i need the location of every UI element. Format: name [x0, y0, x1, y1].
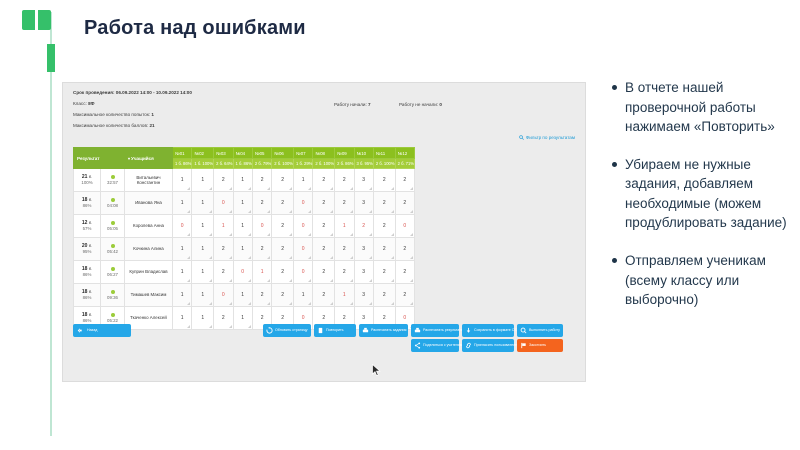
- max-points-value: 21: [149, 123, 154, 128]
- score-cell-8[interactable]: 2: [313, 215, 335, 238]
- student-time: 06:27: [101, 261, 125, 284]
- task-sub-6: 1 б.29%: [294, 159, 313, 169]
- col-result[interactable]: Результат: [74, 148, 101, 169]
- repeat-label: Повторить: [326, 329, 344, 333]
- table-row[interactable]: 20 б.95%05:42Кочкина Алина112122022322: [74, 238, 415, 261]
- bullet-text: В отчете нашей проверочной работы нажима…: [625, 78, 790, 137]
- student-name[interactable]: Тимашев Максим: [125, 284, 173, 307]
- score-cell-3[interactable]: 0: [214, 284, 233, 307]
- task-header-10[interactable]: №11: [373, 148, 395, 159]
- status-dot-icon: [111, 267, 115, 271]
- col-time: [101, 148, 125, 169]
- cell-corner-icon: [391, 302, 394, 305]
- task-header-8[interactable]: №09: [335, 148, 354, 159]
- print-tasks-button[interactable]: Распечатать задания ▾: [359, 324, 408, 337]
- task-sub-11: 2 б.71%: [395, 159, 414, 169]
- class-label: Класс:: [73, 101, 87, 106]
- cell-corner-icon: [229, 302, 232, 305]
- cell-corner-icon: [308, 279, 311, 282]
- cell-corner-icon: [229, 187, 232, 190]
- cell-corner-icon: [369, 210, 372, 213]
- score-cell-11[interactable]: 2: [373, 284, 395, 307]
- decorative-rail-line: [50, 12, 52, 436]
- task-sub-3: 1 б.86%: [233, 159, 252, 169]
- cell-corner-icon: [369, 187, 372, 190]
- score-cell-11[interactable]: 2: [373, 238, 395, 261]
- table-row[interactable]: 12 б.57%05:05Королева Анна011102021220: [74, 215, 415, 238]
- bullet-dot-icon: [612, 258, 617, 263]
- student-name[interactable]: Иванова Яна: [125, 192, 173, 215]
- task-sub-7: 2 б.100%: [313, 159, 335, 169]
- score-cell-5[interactable]: 1: [252, 261, 271, 284]
- cell-corner-icon: [410, 187, 413, 190]
- task-sub-8: 2 б.86%: [335, 159, 354, 169]
- score-cell-3[interactable]: 0: [214, 192, 233, 215]
- task-header-1[interactable]: №02: [192, 148, 214, 159]
- score-cell-10[interactable]: 2: [354, 215, 373, 238]
- cell-corner-icon: [369, 233, 372, 236]
- student-time: 09:36: [101, 284, 125, 307]
- student-name[interactable]: Витальевич Константин: [125, 169, 173, 192]
- cell-corner-icon: [330, 256, 333, 259]
- score-cell-9[interactable]: 2: [335, 238, 354, 261]
- search-icon: [519, 135, 524, 140]
- attempts-value: 1: [151, 112, 154, 117]
- score-cell-9[interactable]: 1: [335, 284, 354, 307]
- cell-corner-icon: [289, 256, 292, 259]
- cell-corner-icon: [350, 187, 353, 190]
- score-cell-12[interactable]: 2: [395, 238, 414, 261]
- cell-corner-icon: [187, 279, 190, 282]
- score-cell-6[interactable]: 2: [272, 215, 294, 238]
- cell-corner-icon: [267, 187, 270, 190]
- status-dot-icon: [111, 175, 115, 179]
- score-cell-4[interactable]: 1: [233, 238, 252, 261]
- student-time: 05:05: [101, 215, 125, 238]
- cell-corner-icon: [267, 210, 270, 213]
- score-cell-4[interactable]: 0: [233, 261, 252, 284]
- print-results-label: Распечатать результаты: [423, 329, 463, 333]
- student-name[interactable]: Кочкина Алина: [125, 238, 173, 261]
- student-result: 12 б.57%: [74, 215, 101, 238]
- score-cell-8[interactable]: 2: [313, 238, 335, 261]
- flag-icon: [520, 342, 527, 349]
- max-points-label: Максимальное количество баллов:: [73, 123, 148, 128]
- cell-corner-icon: [289, 233, 292, 236]
- score-cell-10[interactable]: 3: [354, 169, 373, 192]
- cell-corner-icon: [209, 187, 212, 190]
- repeat-button[interactable]: Повторить: [314, 324, 356, 337]
- cell-corner-icon: [289, 279, 292, 282]
- score-cell-4[interactable]: 1: [233, 215, 252, 238]
- score-cell-6[interactable]: 2: [272, 192, 294, 215]
- time-value: 05:42: [107, 249, 118, 254]
- cell-corner-icon: [308, 256, 311, 259]
- cell-corner-icon: [267, 233, 270, 236]
- bullet-dot-icon: [612, 162, 617, 167]
- cell-corner-icon: [248, 279, 251, 282]
- task-header-4[interactable]: №05: [252, 148, 271, 159]
- score-cell-2[interactable]: 1: [192, 238, 214, 261]
- task-sub-4: 2 б.79%: [252, 159, 271, 169]
- score-cell-7[interactable]: 0: [294, 238, 313, 261]
- task-header-3[interactable]: №04: [233, 148, 252, 159]
- score-cell-10[interactable]: 3: [354, 261, 373, 284]
- score-cell-7[interactable]: 0: [294, 192, 313, 215]
- bullet-item-3: Отправляем ученикам (всему классу или вы…: [612, 251, 790, 310]
- score-cell-7[interactable]: 1: [294, 169, 313, 192]
- class-value: 8Ф: [88, 101, 94, 106]
- cell-corner-icon: [209, 210, 212, 213]
- task-sub-9: 3 б.95%: [354, 159, 373, 169]
- action-toolbar: Назад Обновить страницу Повторить: [73, 323, 575, 361]
- cell-corner-icon: [267, 256, 270, 259]
- cell-corner-icon: [369, 256, 372, 259]
- started-count: Работу начали: 7: [334, 102, 371, 107]
- score-cell-1[interactable]: 1: [173, 238, 192, 261]
- score-cell-8[interactable]: 2: [313, 261, 335, 284]
- finish-button[interactable]: Закончить: [517, 339, 563, 352]
- task-sub-5: 2 б.100%: [272, 159, 294, 169]
- cell-corner-icon: [289, 187, 292, 190]
- score-cell-8[interactable]: 2: [313, 284, 335, 307]
- result-percent: 86%: [74, 272, 100, 277]
- sort-caret-icon: ▾: [128, 156, 130, 161]
- score-cell-7[interactable]: 0: [294, 261, 313, 284]
- cell-corner-icon: [391, 233, 394, 236]
- cell-corner-icon: [350, 256, 353, 259]
- back-label: Назад: [87, 329, 97, 333]
- score-cell-2[interactable]: 1: [192, 169, 214, 192]
- cell-corner-icon: [308, 187, 311, 190]
- task-header-9[interactable]: №10: [354, 148, 373, 159]
- page-title: Работа над ошибками: [84, 17, 306, 40]
- cell-corner-icon: [248, 210, 251, 213]
- score-cell-6[interactable]: 2: [272, 169, 294, 192]
- result-percent: 57%: [74, 226, 100, 231]
- period-label: Срок проведения:: [73, 90, 115, 95]
- student-result: 18 б.86%: [74, 261, 101, 284]
- cell-corner-icon: [248, 256, 251, 259]
- task-header-0[interactable]: №01: [173, 148, 192, 159]
- student-time: 32:57: [101, 169, 125, 192]
- bullet-item-1: В отчете нашей проверочной работы нажима…: [612, 78, 790, 137]
- cell-corner-icon: [350, 279, 353, 282]
- refresh-label: Обновить страницу: [275, 329, 308, 333]
- score-cell-3[interactable]: 2: [214, 238, 233, 261]
- score-cell-5[interactable]: 2: [252, 284, 271, 307]
- score-cell-12[interactable]: 2: [395, 169, 414, 192]
- printer-icon: [362, 327, 369, 334]
- score-cell-5[interactable]: 2: [252, 238, 271, 261]
- open-book-icon: [22, 10, 52, 30]
- score-cell-9[interactable]: 1: [335, 215, 354, 238]
- link-icon: [465, 342, 472, 349]
- task-sub-10: 2 б.100%: [373, 159, 395, 169]
- score-cell-7[interactable]: 1: [294, 284, 313, 307]
- task-sub-0: 1 б.86%: [173, 159, 192, 169]
- mouse-cursor-icon: [372, 364, 381, 377]
- result-percent: 100%: [74, 180, 100, 185]
- cell-corner-icon: [187, 233, 190, 236]
- score-cell-3[interactable]: 2: [214, 261, 233, 284]
- filter-label: Фильтр по результатам: [526, 135, 575, 140]
- score-cell-4[interactable]: 1: [233, 284, 252, 307]
- cell-corner-icon: [369, 302, 372, 305]
- cell-corner-icon: [229, 256, 232, 259]
- print-results-button[interactable]: Распечатать результаты: [411, 324, 459, 337]
- bullet-dot-icon: [612, 85, 617, 90]
- cell-corner-icon: [391, 279, 394, 282]
- invite-users-button[interactable]: Пригласить пользователей: [462, 339, 514, 352]
- score-cell-4[interactable]: 1: [233, 192, 252, 215]
- bullet-text: Отправляем ученикам (всему классу или вы…: [625, 251, 790, 310]
- table-row[interactable]: 18 б.86%04:08Иванова Яна110122022322: [74, 192, 415, 215]
- cell-corner-icon: [248, 233, 251, 236]
- task-header-7[interactable]: №08: [313, 148, 335, 159]
- cell-corner-icon: [410, 233, 413, 236]
- score-cell-1[interactable]: 1: [173, 169, 192, 192]
- score-cell-12[interactable]: 2: [395, 192, 414, 215]
- task-sub-2: 2 б.64%: [214, 159, 233, 169]
- cell-corner-icon: [308, 210, 311, 213]
- score-cell-7[interactable]: 0: [294, 215, 313, 238]
- col-student[interactable]: ▾Учащийся: [125, 148, 173, 169]
- save-csv-label: Сохранить в формате CSV: [474, 329, 519, 333]
- score-cell-10[interactable]: 3: [354, 192, 373, 215]
- results-table-body: 21 б.100%32:57Витальевич Константин11212…: [74, 169, 415, 330]
- score-cell-4[interactable]: 1: [233, 169, 252, 192]
- score-cell-12[interactable]: 2: [395, 284, 414, 307]
- cell-corner-icon: [410, 256, 413, 259]
- finish-label: Закончить: [529, 344, 546, 348]
- score-cell-9[interactable]: 2: [335, 169, 354, 192]
- cell-corner-icon: [289, 302, 292, 305]
- score-cell-10[interactable]: 3: [354, 238, 373, 261]
- cell-corner-icon: [248, 302, 251, 305]
- bullet-text: Убираем не нужные задания, добавляем нео…: [625, 155, 790, 233]
- header-row-main: Результат ▾Учащийся №01 №02 №03 №04 №05 …: [74, 148, 415, 159]
- cell-corner-icon: [391, 256, 394, 259]
- time-value: 09:36: [107, 295, 118, 300]
- time-value: 04:08: [107, 203, 118, 208]
- magnifier-icon: [520, 327, 527, 334]
- result-percent: 86%: [74, 203, 100, 208]
- score-cell-6[interactable]: 2: [272, 261, 294, 284]
- time-value: 06:27: [107, 272, 118, 277]
- score-cell-3[interactable]: 1: [214, 215, 233, 238]
- cell-corner-icon: [187, 256, 190, 259]
- student-time: 05:42: [101, 238, 125, 261]
- filter-by-results-link[interactable]: Фильтр по результатам: [519, 135, 575, 140]
- save-csv-button[interactable]: Сохранить в формате CSV: [462, 324, 514, 337]
- printer-icon: [414, 327, 421, 334]
- score-cell-11[interactable]: 2: [373, 261, 395, 284]
- score-cell-2[interactable]: 1: [192, 261, 214, 284]
- do-work-button[interactable]: Выполнить работу: [517, 324, 563, 337]
- cell-corner-icon: [330, 302, 333, 305]
- bullet-list: В отчете нашей проверочной работы нажима…: [612, 78, 790, 328]
- cell-corner-icon: [330, 279, 333, 282]
- back-button[interactable]: Назад: [73, 324, 131, 337]
- score-cell-2[interactable]: 1: [192, 215, 214, 238]
- period-value: 06.09.2022 14:00 - 10.09.2022 14:00: [116, 90, 192, 95]
- bullet-item-2: Убираем не нужные задания, добавляем нео…: [612, 155, 790, 233]
- document-repeat-icon: [317, 327, 324, 334]
- score-cell-5[interactable]: 2: [252, 192, 271, 215]
- table-row[interactable]: 18 б.86%09:36Тимашев Максим110122121322: [74, 284, 415, 307]
- decorative-rail-block: [47, 44, 55, 72]
- cell-corner-icon: [289, 210, 292, 213]
- score-cell-10[interactable]: 3: [354, 284, 373, 307]
- cell-corner-icon: [187, 302, 190, 305]
- cell-corner-icon: [410, 302, 413, 305]
- cell-corner-icon: [330, 187, 333, 190]
- result-percent: 86%: [74, 295, 100, 300]
- cell-corner-icon: [267, 279, 270, 282]
- cell-corner-icon: [391, 187, 394, 190]
- score-cell-8[interactable]: 2: [313, 169, 335, 192]
- task-header-6[interactable]: №07: [294, 148, 313, 159]
- results-table: Результат ▾Учащийся №01 №02 №03 №04 №05 …: [73, 147, 415, 330]
- cell-corner-icon: [410, 279, 413, 282]
- score-cell-1[interactable]: 0: [173, 215, 192, 238]
- student-time: 04:08: [101, 192, 125, 215]
- share-icon: [414, 342, 421, 349]
- cell-corner-icon: [330, 210, 333, 213]
- share-with-teachers-button[interactable]: Поделиться с учителями: [411, 339, 459, 352]
- cell-corner-icon: [229, 279, 232, 282]
- score-cell-5[interactable]: 2: [252, 169, 271, 192]
- student-result: 18 б.86%: [74, 192, 101, 215]
- cell-corner-icon: [330, 233, 333, 236]
- cell-corner-icon: [350, 233, 353, 236]
- download-icon: [465, 327, 472, 334]
- print-tasks-label: Распечатать задания: [371, 329, 406, 333]
- task-header-11[interactable]: №12: [395, 148, 414, 159]
- score-cell-9[interactable]: 2: [335, 192, 354, 215]
- score-cell-5[interactable]: 0: [252, 215, 271, 238]
- score-cell-8[interactable]: 2: [313, 192, 335, 215]
- status-dot-icon: [111, 198, 115, 202]
- status-dot-icon: [111, 244, 115, 248]
- app-screenshot: Срок проведения: 06.09.2022 14:00 - 10.0…: [62, 82, 586, 382]
- results-table-head: Результат ▾Учащийся №01 №02 №03 №04 №05 …: [74, 148, 415, 169]
- student-name[interactable]: Куприн Владислав: [125, 261, 173, 284]
- cell-corner-icon: [209, 302, 212, 305]
- cell-corner-icon: [229, 233, 232, 236]
- arrow-left-icon: [76, 327, 83, 334]
- score-cell-6[interactable]: 2: [272, 238, 294, 261]
- score-cell-1[interactable]: 1: [173, 261, 192, 284]
- score-cell-11[interactable]: 2: [373, 192, 395, 215]
- cell-corner-icon: [267, 302, 270, 305]
- task-header-2[interactable]: №03: [214, 148, 233, 159]
- score-cell-11[interactable]: 2: [373, 215, 395, 238]
- refresh-page-button[interactable]: Обновить страницу: [263, 324, 311, 337]
- cell-corner-icon: [187, 187, 190, 190]
- cell-corner-icon: [209, 233, 212, 236]
- slide: Работа над ошибками Срок проведения: 06.…: [0, 0, 800, 450]
- time-value: 32:57: [107, 180, 118, 185]
- score-cell-9[interactable]: 2: [335, 261, 354, 284]
- student-result: 20 б.95%: [74, 238, 101, 261]
- cell-corner-icon: [350, 210, 353, 213]
- table-row[interactable]: 18 б.86%06:27Куприн Владислав11201202232…: [74, 261, 415, 284]
- score-cell-3[interactable]: 2: [214, 169, 233, 192]
- status-dot-icon: [111, 221, 115, 225]
- score-cell-12[interactable]: 2: [395, 261, 414, 284]
- score-cell-1[interactable]: 1: [173, 284, 192, 307]
- student-result: 18 б.86%: [74, 284, 101, 307]
- student-result: 21 б.100%: [74, 169, 101, 192]
- table-row[interactable]: 21 б.100%32:57Витальевич Константин11212…: [74, 169, 415, 192]
- task-sub-1: 1 б.100%: [192, 159, 214, 169]
- cell-corner-icon: [209, 256, 212, 259]
- share-label: Поделиться с учителями: [423, 344, 464, 348]
- cell-corner-icon: [350, 302, 353, 305]
- cell-corner-icon: [308, 233, 311, 236]
- cell-corner-icon: [248, 187, 251, 190]
- cell-corner-icon: [308, 302, 311, 305]
- cell-corner-icon: [391, 210, 394, 213]
- cell-corner-icon: [187, 210, 190, 213]
- attempts-label: Максимальное количество попыток:: [73, 112, 150, 117]
- status-dot-icon: [111, 313, 115, 317]
- status-dot-icon: [111, 290, 115, 294]
- score-cell-12[interactable]: 0: [395, 215, 414, 238]
- cell-corner-icon: [369, 279, 372, 282]
- time-value: 05:05: [107, 226, 118, 231]
- result-percent: 95%: [74, 249, 100, 254]
- score-cell-1[interactable]: 1: [173, 192, 192, 215]
- do-work-label: Выполнить работу: [529, 329, 560, 333]
- student-name[interactable]: Королева Анна: [125, 215, 173, 238]
- score-cell-6[interactable]: 2: [272, 284, 294, 307]
- invite-label: Пригласить пользователей: [474, 344, 519, 348]
- score-cell-2[interactable]: 1: [192, 284, 214, 307]
- cell-corner-icon: [209, 279, 212, 282]
- cell-corner-icon: [229, 210, 232, 213]
- score-cell-11[interactable]: 2: [373, 169, 395, 192]
- refresh-icon: [266, 327, 273, 334]
- score-cell-2[interactable]: 1: [192, 192, 214, 215]
- col-student-label: Учащийся: [131, 156, 154, 161]
- cell-corner-icon: [410, 210, 413, 213]
- not-started-count: Работу не начали: 0: [399, 102, 442, 107]
- task-header-5[interactable]: №06: [272, 148, 294, 159]
